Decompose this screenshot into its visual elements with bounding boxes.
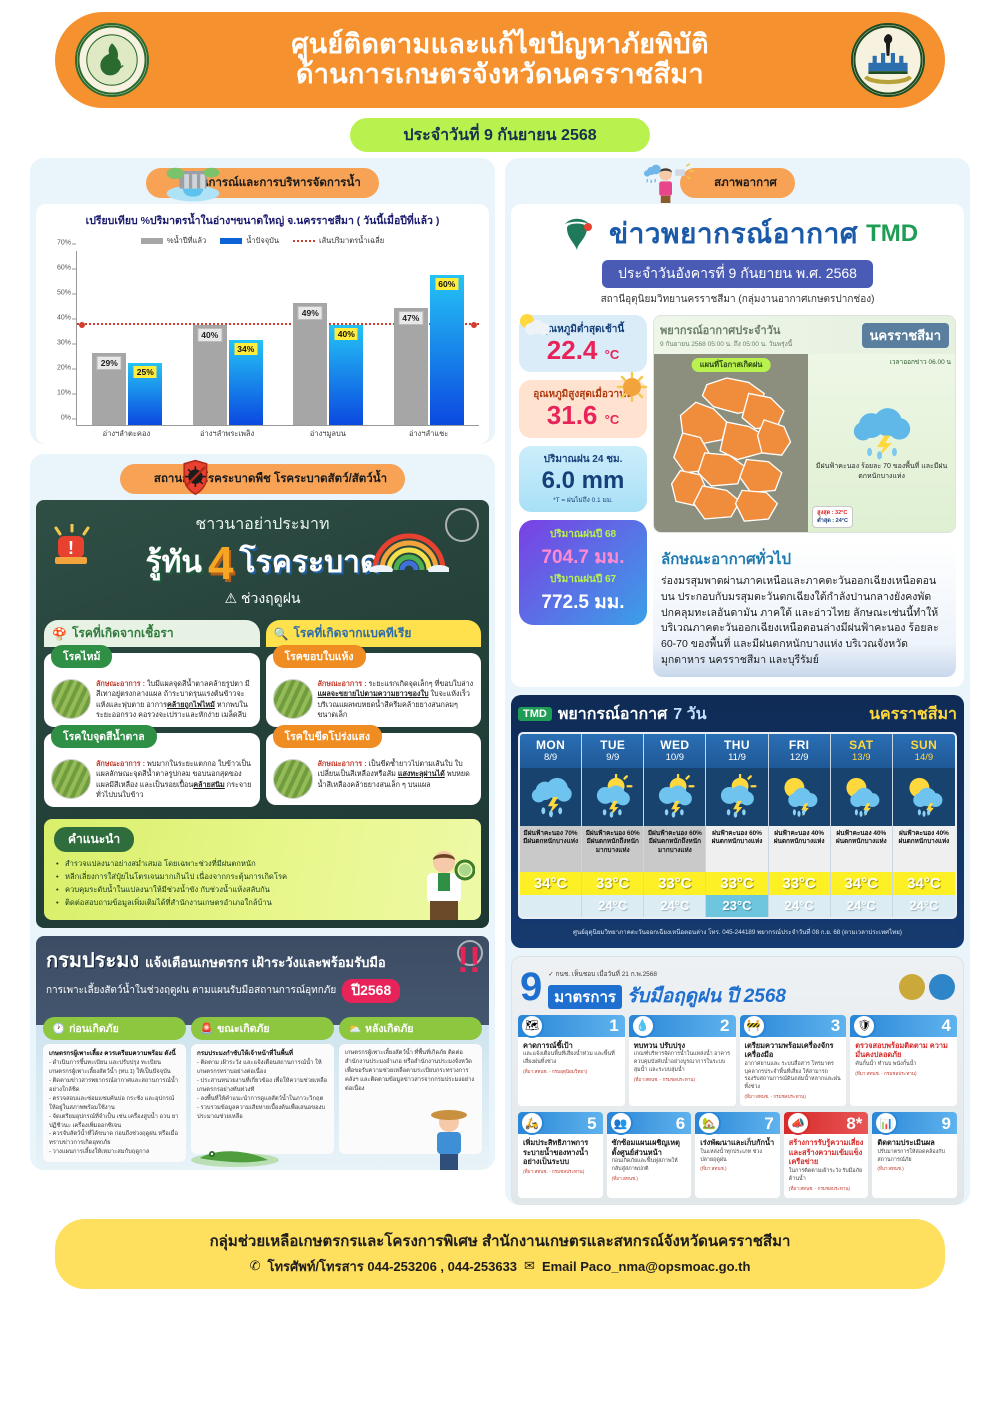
- measures-word: มาตรการ: [548, 985, 622, 1009]
- fisheries-phase-body: เกษตรกรผู้เพาะเลี้ยง ควรเตรียมความพร้อม …: [43, 1044, 186, 1163]
- footer-email: Email Paco_nma@opsmoac.go.th: [542, 1259, 750, 1274]
- disease-body: ลักษณะอาการ : เป็นขีดช้ำยาวไปตามเส้นใบ ใ…: [273, 759, 475, 799]
- siren-icon: 🚨: [200, 1022, 213, 1035]
- map-caption: มีฝนฟ้าคะนอง ร้อยละ 70 ของพื้นที่ และมีฝ…: [808, 462, 955, 482]
- warning-triangle-icon: ⚠: [225, 590, 238, 606]
- excavator-icon: 🛵: [520, 1112, 544, 1135]
- poster-main-number: 4: [208, 540, 234, 586]
- svg-text:!: !: [68, 538, 74, 558]
- forecast-header: TMD พยากรณ์อากาศ 7 วัน นครราชสีมา: [518, 702, 957, 727]
- fisheries-warning-card: กรมประมง แจ้งเตือนเกษตรกร เฝ้าระวังและพร…: [36, 936, 489, 1171]
- weather-section: สภาพอากาศ ข่าวพยากรณ์อากาศ TMD ประจำวันอ…: [505, 158, 970, 1205]
- poster-stamp-icon: [445, 508, 479, 542]
- chart-y-axis: 0%10%20%30%40%50%60%70%: [43, 251, 75, 425]
- rain-year-card: ปริมาณฝนปี 68 704.7 มม. ปริมาณฝนปี 67 77…: [519, 520, 647, 625]
- fisheries-phase-header: 🕐ก่อนเกิดภัย: [43, 1017, 186, 1040]
- sun-cloud-icon: [517, 311, 551, 341]
- sun-rain-icon: [893, 768, 955, 826]
- sun-icon: [615, 372, 649, 402]
- fisheries-phase-title: ก่อนเกิดภัย: [69, 1020, 119, 1037]
- measure-body: ติดตามประเมินผลปรับมาตรการให้สอดคล้องกับ…: [872, 1134, 957, 1178]
- forecast-day-low: 24°C: [644, 895, 705, 917]
- forecast-day-low: 24°C: [893, 895, 955, 917]
- disease-photo: [51, 759, 91, 799]
- storm-cloud-icon: [844, 404, 920, 462]
- mdes-logo-icon: [557, 214, 601, 254]
- monitor-evaluate-icon: 📊: [874, 1112, 898, 1135]
- rain-year-68-label: ปริมาณฝนปี 68: [525, 527, 641, 542]
- measure-number-bar: 📊9: [872, 1112, 957, 1134]
- measure-number: 3: [831, 1017, 840, 1034]
- legend-swatch-average: [293, 240, 315, 242]
- measure-number: 8*: [846, 1115, 862, 1132]
- forecast-day-low: 24°C: [582, 895, 643, 917]
- advice-item: ติดต่อสอบถามข้อมูลเพิ่มเติมได้ที่สำนักงา…: [54, 896, 471, 909]
- tmd-title: ข่าวพยากรณ์อากาศ: [609, 212, 858, 256]
- measure-source: (ที่มา:สทนช. - กรมชลประทาน): [855, 1071, 952, 1078]
- disease-category: 🍄โรคที่เกิดจากเชื้อราโรคไหม้ลักษณะอาการ …: [44, 620, 260, 813]
- measure-body: คาดการณ์ชี้เป้าและแจ้งเตือนพื้นที่เสี่ยง…: [518, 1037, 625, 1081]
- measures-title: รับมือฤดูฝน ปี 2568: [627, 981, 786, 1011]
- page-title-line2: ด้านการเกษตรจังหวัดนครราชสีมา: [291, 60, 709, 90]
- chart-bar-group: 47%60%: [379, 251, 480, 425]
- fisheries-phase-title: ขณะเกิดภัย: [217, 1020, 269, 1037]
- forecast-day-header: SUN14/9: [893, 734, 955, 768]
- disease-name: โรคใบขีดโปร่งแสง: [273, 725, 382, 748]
- chart-bar-value: 40%: [335, 328, 358, 340]
- forecast-day-column[interactable]: TUE9/9มีฝนฟ้าคะนอง 60% มีฝนตกหนักถึงหนัก…: [582, 734, 644, 917]
- forecast-day-date: 9/9: [582, 752, 643, 763]
- footer-phone: โทรศัพท์/โทรสาร 044-253206 , 044-253633: [268, 1256, 518, 1277]
- disease-category-label: โรคที่เกิดจากเชื้อรา: [72, 624, 174, 643]
- measure-title: เตรียมความพร้อมเครื่องจักรเครื่องมือ: [745, 1041, 842, 1060]
- forecast-day-column[interactable]: THU11/9ฝนฟ้าคะนอง 60% ฝนตกหนักบางแห่ง33°…: [706, 734, 768, 917]
- daily-forecast-map-panel: พยากรณ์อากาศประจำวัน 9 กันยายน 2568 05:0…: [653, 315, 956, 533]
- measure-title: คาดการณ์ชี้เป้า: [523, 1041, 620, 1051]
- forecast-day-header: FRI12/9: [769, 734, 830, 768]
- forecast-day-high: 34°C: [520, 872, 581, 895]
- measure-source: (ที่มา:สทนช. - กรมชลประทาน): [745, 1094, 842, 1101]
- exclamation-icon: !!: [457, 946, 481, 975]
- measure-number: 9: [942, 1115, 951, 1132]
- page-footer: กลุ่มช่วยเหลือเกษตรกรและโครงการพิเศษ สำน…: [55, 1219, 945, 1289]
- measure-item[interactable]: 👥6ซักซ้อมแผนเผชิญเหตุ ตั้งศูนย์ส่วนหน้าก…: [607, 1112, 692, 1198]
- sun-rain-thunder-icon: [582, 768, 643, 826]
- weather-section-header: สภาพอากาศ: [505, 168, 970, 198]
- chart-bar-value: 25%: [134, 366, 157, 378]
- disease-card: โรคใบขีดโปร่งแสงลักษณะอาการ : เป็นขีดช้ำ…: [266, 733, 482, 805]
- poster-season-label: ช่วงฤดูฝน: [241, 590, 301, 606]
- province-district-map[interactable]: แผนที่โอกาสเกิดฝน: [654, 354, 808, 532]
- measure-number: 6: [676, 1115, 685, 1132]
- disease-name: โรคขอบใบแห้ง: [273, 645, 366, 668]
- disease-body: ลักษณะอาการ : พบมากในระยะแตกกอ ใบข้าวเป็…: [51, 759, 253, 801]
- advice-list: สำรวจแปลงนาอย่างสม่ำเสมอ โดยเฉพาะช่วงที่…: [54, 857, 471, 910]
- clock-icon: 🕐: [52, 1022, 65, 1035]
- forecast-day-name: WED: [644, 738, 705, 752]
- chart-bar-value: 49%: [298, 306, 323, 320]
- forecast-day-column[interactable]: SAT13/9ฝนฟ้าคะนอง 40% ฝนตกหนักบางแห่ง34°…: [831, 734, 893, 917]
- disease-body: ลักษณะอาการ : ใบมีแผลจุดสีน้ำตาลคล้ายรูป…: [51, 679, 253, 721]
- measure-item[interactable]: 🗺1คาดการณ์ชี้เป้าและแจ้งเตือนพื้นที่เสี่…: [518, 1015, 625, 1107]
- chart-bar-group: 40%34%: [178, 251, 279, 425]
- chart-bar: 25%: [128, 363, 162, 426]
- measure-title: ทบทวน ปรับปรุง: [634, 1041, 731, 1051]
- measure-source: (ที่มา:สทนช. - กรมชลประทาน): [634, 1077, 731, 1084]
- measure-body: ซักซ้อมแผนเผชิญเหตุ ตั้งศูนย์ส่วนหน้าก่อ…: [607, 1134, 692, 1188]
- fisheries-subtitle: การเพาะเลี้ยงสัตว์น้ำในช่วงฤดูฝน ตามแผนร…: [46, 983, 336, 998]
- chart-bar-value: 34%: [234, 343, 257, 355]
- chart-legend: %น้ำปีที่แล้ว น้ำปัจจุบัน เส้นปริมาตรน้ำ…: [42, 235, 483, 247]
- measure-number-bar: 🛵5: [518, 1112, 603, 1134]
- general-weather-box: ลักษณะอากาศทั่วไป ร่องมรสุมพาดผ่านภาคเหน…: [653, 541, 956, 677]
- y-tick: 40%: [57, 315, 71, 322]
- forecast-day-name: SUN: [893, 738, 955, 752]
- chart-plot-area: 0%10%20%30%40%50%60%70% 29%25%40%34%49%4…: [76, 251, 479, 426]
- chart-bar: 49%: [293, 303, 327, 426]
- min-temp-unit: °C: [605, 347, 620, 362]
- flood-risk-map-icon: 🗺: [520, 1015, 544, 1038]
- sun-rain-thunder-icon: [706, 768, 767, 826]
- disease-symptoms: ลักษณะอาการ : เป็นขีดช้ำยาวไปตามเส้นใบ ใ…: [318, 759, 475, 799]
- right-column: สภาพอากาศ ข่าวพยากรณ์อากาศ TMD ประจำวันอ…: [505, 158, 970, 1215]
- forecast-day-date: 13/9: [831, 752, 892, 763]
- map-temp-badge: สูงสุด : 32°C ต่ำสุด : 24°C: [812, 506, 853, 528]
- fisheries-phase-head: กรมประมงกำชับให้เจ้าหน้าที่ในพื้นที่: [197, 1050, 293, 1057]
- disease-situation-section: สถานการโรคระบาดพืช โรคระบาดสัตว์/สัตว์น้…: [30, 454, 495, 1170]
- measure-desc: เกณฑ์บริหารจัดการน้ำในแหล่งน้ำ อาคารควบค…: [634, 1051, 731, 1074]
- rain-24h-value: 6.0 mm: [527, 467, 639, 495]
- chart-bar-groups: 29%25%40%34%49%40%47%60%: [77, 251, 479, 425]
- measure-desc: ก่อนเกิดภัยและฟื้นฟูสภาพให้กลับสู่สภาพปก…: [612, 1158, 687, 1174]
- weather-section-badge: สภาพอากาศ: [680, 168, 795, 198]
- water-section-header: สถานการณ์และการบริหารจัดการน้ำ: [30, 168, 495, 198]
- forecast-day-high: 33°C: [769, 872, 830, 895]
- fisheries-header: กรมประมง แจ้งเตือนเกษตรกร เฝ้าระวังและพร…: [36, 936, 489, 1013]
- measure-source: (ที่มา:สทนช. - กรมอุตุนิยมวิทยา): [523, 1069, 620, 1076]
- map-title-sub: 9 กันยายน 2568 05:00 น. ถึง 05:00 น. วัน…: [660, 339, 792, 349]
- general-weather-text: ร่องมรสุมพาดผ่านภาคเหนือและภาคตะวันออกเฉ…: [661, 574, 948, 669]
- footer-contact-line: ✆ โทรศัพท์/โทรสาร 044-253206 , 044-25363…: [55, 1256, 945, 1277]
- measures-title-row: มาตรการ รับมือฤดูฝน ปี 2568: [548, 981, 893, 1011]
- measure-body: ตรวจสอบพร้อมติดตาม ความมั่นคงปลอดภัยคันก…: [850, 1037, 957, 1083]
- fisheries-phase-header: 🚨ขณะเกิดภัย: [191, 1017, 334, 1040]
- alarm-siren-icon: !: [50, 524, 94, 570]
- forecast-grid: MON8/9มีฝนฟ้าคะนอง 70% มีฝนตกหนักบางแห่ง…: [518, 732, 957, 919]
- drill-team-icon: 👥: [609, 1112, 633, 1135]
- measure-item[interactable]: 📣8*สร้างการรับรู้ความเสี่ยงและสร้างความเ…: [784, 1112, 869, 1198]
- forecast-title: TMD พยากรณ์อากาศ 7 วัน: [518, 702, 707, 727]
- measure-desc: ในการติดตามเฝ้าระวัง รับมือภัยด้านน้ำ: [789, 1168, 864, 1184]
- disease-name: โรคไหม้: [51, 645, 112, 668]
- disease-category-pill: 🍄โรคที่เกิดจากเชื้อรา: [44, 620, 260, 647]
- min-temp-value: 22.4 °C: [527, 337, 639, 364]
- forecast-day-header: THU11/9: [706, 734, 767, 768]
- water-situation-section: สถานการณ์และการบริหารจัดการน้ำ เปรียบเที…: [30, 158, 495, 444]
- measure-body: เตรียมความพร้อมเครื่องจักรเครื่องมืออากา…: [740, 1037, 847, 1107]
- measure-title: ติดตามประเมินผล: [877, 1138, 952, 1148]
- crocodile-icon: [190, 1134, 280, 1168]
- measures-seals: [899, 974, 955, 1000]
- forecast-day-low: 23°C: [706, 895, 767, 917]
- chart-bar-value: 47%: [398, 311, 423, 325]
- forecast-day-header: TUE9/9: [582, 734, 643, 768]
- fisheries-year-badge: ปี2568: [342, 979, 400, 1003]
- disease-category-pill: 🔍โรคที่เกิดจากแบคทีเรีย: [266, 620, 482, 647]
- legend-item-current: น้ำปัจจุบัน: [220, 235, 279, 247]
- y-tick: 70%: [57, 240, 71, 247]
- report-date-pill: ประจำวันที่ 9 กันยายน 2568: [350, 118, 650, 152]
- measure-desc: อากาศยานและ ระบบสื่อสาร โทรมาตร บุคลากรป…: [745, 1061, 842, 1092]
- awareness-network-icon: 📣: [786, 1112, 810, 1135]
- main-columns: สถานการณ์และการบริหารจัดการน้ำ เปรียบเที…: [0, 152, 1000, 1215]
- max-temp-value: 31.6 °C: [527, 402, 639, 429]
- fisheries-phase-line: - ติดตามข่าวสารพยากรณ์อากาศและสถานการณ์น…: [49, 1078, 178, 1093]
- forecast-days-word: 7 วัน: [673, 702, 706, 727]
- forecast-day-column[interactable]: MON8/9มีฝนฟ้าคะนอง 70% มีฝนตกหนักบางแห่ง…: [520, 734, 582, 917]
- rain-year-67-label: ปริมาณฝนปี 67: [525, 572, 641, 587]
- measure-item[interactable]: 💧2ทบทวน ปรับปรุงเกณฑ์บริหารจัดการน้ำในแห…: [629, 1015, 736, 1107]
- forecast-day-column[interactable]: WED10/9มีฝนฟ้าคะนอง 60% มีฝนตกหนักถึงหนั…: [644, 734, 706, 917]
- measure-number: 7: [764, 1115, 773, 1132]
- weather-map-column: พยากรณ์อากาศประจำวัน 9 กันยายน 2568 05:0…: [653, 315, 956, 677]
- y-tick: 60%: [57, 265, 71, 272]
- map-time-label: เวลาออกข่าว 06.00 น: [890, 357, 951, 367]
- poster-main-a: รู้ทัน: [146, 539, 202, 586]
- measure-title: ซักซ้อมแผนเผชิญเหตุ ตั้งศูนย์ส่วนหน้า: [612, 1138, 687, 1157]
- min-temp-card: อุณหภูมิต่ำสุดเช้านี้ 22.4 °C: [519, 315, 647, 372]
- sun-rain-icon: [831, 768, 892, 826]
- legend-label-prev: %น้ำปีที่แล้ว: [167, 235, 206, 247]
- sun-rain-icon: [769, 768, 830, 826]
- map-title-text: พยากรณ์อากาศประจำวัน: [660, 325, 780, 337]
- chart-bar: 60%: [430, 275, 464, 425]
- measure-item[interactable]: 🛵5เพิ่มประสิทธิภาพการระบายน้ำของทางน้ำอย…: [518, 1112, 603, 1198]
- max-temp-number: 31.6: [547, 400, 598, 430]
- forecast-footer-note: ศูนย์อุตุนิยมวิทยาภาคตะวันออกเฉียงเหนือต…: [518, 924, 957, 940]
- chart-x-label: อ่างฯลำพระเพลิง: [177, 428, 278, 440]
- y-tick: 20%: [57, 365, 71, 372]
- fisheries-phase-header: ⛅หลังเกิดภัย: [339, 1017, 482, 1040]
- forecast-day-high: 33°C: [644, 872, 705, 895]
- disease-photo: [273, 679, 313, 719]
- disease-photo: [273, 759, 313, 799]
- forecast-day-date: 14/9: [893, 752, 955, 763]
- sun-cloud-icon: ⛅: [348, 1022, 361, 1035]
- forecast-day-name: TUE: [582, 738, 643, 752]
- forecast-day-desc: ฝนฟ้าคะนอง 40% ฝนตกหนักบางแห่ง: [831, 826, 892, 872]
- agronomist-figure-icon: [413, 846, 475, 920]
- fisheries-phase-line: - ลงพื้นที่ให้คำแนะนำการดูแลสัตว์น้ำในภา…: [197, 1096, 323, 1102]
- max-temp-unit: °C: [605, 412, 620, 427]
- disease-category-label: โรคที่เกิดจากแบคทีเรีย: [293, 624, 411, 643]
- forecast-day-header: SAT13/9: [831, 734, 892, 768]
- measure-number-bar: 🚧3: [740, 1015, 847, 1037]
- chart-bar: 40%: [193, 325, 227, 425]
- dam-safety-icon: 🛡: [852, 1015, 876, 1038]
- y-tick: 10%: [57, 390, 71, 397]
- chart-x-labels: อ่างฯลำตะคองอ่างฯลำพระเพลิงอ่างฯมูลบนอ่า…: [76, 428, 479, 440]
- tmd-header: ข่าวพยากรณ์อากาศ TMD: [519, 212, 956, 256]
- rain-year-67-value: 772.5 มม.: [525, 587, 641, 617]
- map-high-temp: สูงสุด : 32°C: [817, 510, 847, 516]
- forecast-day-date: 12/9: [769, 752, 830, 763]
- y-tick: 0%: [61, 415, 71, 422]
- fisheries-phase-line: - ดำเนินการขึ้นทะเบียน และปรับปรุง ทะเบี…: [49, 1060, 171, 1075]
- ministry-of-agriculture-seal-icon: [75, 23, 149, 97]
- legend-swatch-prev: [141, 238, 163, 244]
- forecast-day-low: [520, 895, 581, 917]
- forecast-tmd-logo: TMD: [518, 707, 552, 721]
- measure-body: สร้างการรับรู้ความเสี่ยงและสร้างความเข้ม…: [784, 1134, 869, 1198]
- measures-row-2: 🛵5เพิ่มประสิทธิภาพการระบายน้ำของทางน้ำอย…: [512, 1112, 963, 1204]
- measures-number: 9: [520, 970, 542, 1004]
- tmd-logo: TMD: [866, 220, 918, 248]
- disease-symptoms: ลักษณะอาการ : ระยะแรกเกิดจุดเล็กๆ ที่ขอบ…: [318, 679, 475, 721]
- water-office-seal-icon: [929, 974, 955, 1000]
- forecast-day-header: MON8/9: [520, 734, 581, 768]
- forecast-day-low: 24°C: [769, 895, 830, 917]
- measures-title-block: ✓ กนช. เห็นชอบ เมื่อวันที่ 21 ก.พ.2568 ม…: [548, 963, 893, 1011]
- forecast-day-column[interactable]: SUN14/9ฝนฟ้าคะนอง 40% ฝนตกหนักบางแห่ง34°…: [893, 734, 955, 917]
- measures-approval-note: ✓ กนช. เห็นชอบ เมื่อวันที่ 21 ก.พ.2568: [548, 971, 657, 978]
- forecast-day-name: SAT: [831, 738, 892, 752]
- map-low-temp: ต่ำสุด : 24°C: [817, 518, 848, 524]
- dam-water-icon: [165, 163, 221, 203]
- disease-category: 🔍โรคที่เกิดจากแบคทีเรียโรคขอบใบแห้งลักษณ…: [266, 620, 482, 813]
- fisheries-phase-line: - จัดเตรียมอุปกรณ์ที่จำเป็น เช่น เครื่อง…: [49, 1114, 178, 1129]
- legend-item-average: เส้นปริมาตรน้ำเฉลี่ย: [293, 235, 384, 247]
- forecast-day-desc: มีฝนฟ้าคะนอง 70% มีฝนตกหนักบางแห่ง: [520, 826, 581, 872]
- fisheries-phase-line: - วางแผนการเลี้ยงให้เหมาะสมกับฤดูกาล: [49, 1149, 149, 1155]
- garuda-seal-icon: [899, 974, 925, 1000]
- measure-number-bar: 🏡7: [695, 1112, 780, 1134]
- disease-categories: 🍄โรคที่เกิดจากเชื้อราโรคไหม้ลักษณะอาการ …: [36, 616, 489, 813]
- measure-source: (ที่มา:สทนช. - กรมชลประทาน): [523, 1169, 598, 1176]
- forecast-day-header: WED10/9: [644, 734, 705, 768]
- page-title-line1: ศูนย์ติดตามและแก้ไขปัญหาภัยพิบัติ: [291, 30, 709, 60]
- forecast-day-column[interactable]: FRI12/9ฝนฟ้าคะนอง 40% ฝนตกหนักบางแห่ง33°…: [769, 734, 831, 917]
- forecast-day-low: 24°C: [831, 895, 892, 917]
- page-title: ศูนย์ติดตามและแก้ไขปัญหาภัยพิบัติ ด้านกา…: [291, 30, 709, 89]
- measures-row-1: 🗺1คาดการณ์ชี้เป้าและแจ้งเตือนพื้นที่เสี่…: [512, 1015, 963, 1113]
- measure-body: เร่งพัฒนาและเก็บกักน้ำในแหล่งน้ำทุกประเภ…: [695, 1134, 780, 1178]
- rain-24h-note: *T = ฝนไม่ถึง 0.1 มม.: [527, 495, 639, 505]
- measure-source: (ที่มา:สทนช.): [700, 1166, 775, 1173]
- chart-bar: 47%: [394, 308, 428, 426]
- measure-title: เร่งพัฒนาและเก็บกักน้ำ: [700, 1138, 775, 1148]
- fisheries-phase-line: - ตรวจสอบและซ่อมแซมคันบ่อ กระชัง และอุปก…: [49, 1096, 174, 1111]
- forecast-day-desc: ฝนฟ้าคะนอง 40% ฝนตกหนักบางแห่ง: [893, 826, 955, 872]
- forecast-day-name: FRI: [769, 738, 830, 752]
- left-column: สถานการณ์และการบริหารจัดการน้ำ เปรียบเที…: [30, 158, 495, 1215]
- measure-desc: และแจ้งเตือนพื้นที่เสี่ยงน้ำท่วม และพื้น…: [523, 1051, 620, 1067]
- rain-year-68-value: 704.7 มม.: [525, 542, 641, 572]
- map-weather-summary: เวลาออกข่าว 06.00 น มีฝนฟ้าคะนอง ร้อยละ …: [808, 354, 955, 532]
- map-panel-body: แผนที่โอกาสเกิดฝน: [654, 354, 955, 532]
- rain-thunder-icon: [520, 768, 581, 826]
- sun-rain-thunder-icon: [644, 768, 705, 826]
- measure-title: สร้างการรับรู้ความเสี่ยงและสร้างความเข้ม…: [789, 1138, 864, 1167]
- chart-title: เปรียบเทียบ %ปริมาตรน้ำในอ่างฯขนาดใหญ่ จ…: [42, 212, 483, 229]
- water-storage-icon: 🏡: [697, 1112, 721, 1135]
- measure-number: 1: [609, 1017, 618, 1034]
- general-weather-title: ลักษณะอากาศทั่วไป: [661, 547, 948, 571]
- virus-shield-icon: [165, 459, 221, 499]
- chart-bar-group: 29%25%: [77, 251, 178, 425]
- disease-photo: [51, 679, 91, 719]
- fungus-icon: 🍄: [52, 627, 67, 641]
- measure-number-bar: 👥6: [607, 1112, 692, 1134]
- forecast-day-desc: มีฝนฟ้าคะนอง 60% มีฝนตกหนักถึงหนักมากบาง…: [582, 826, 643, 872]
- rainbow-icon: [369, 528, 449, 572]
- measure-number: 2: [720, 1017, 729, 1034]
- map-province-label: นครราชสีมา: [862, 323, 949, 348]
- forecast-day-name: MON: [520, 738, 581, 752]
- nakhon-ratchasima-province-seal-icon: [851, 23, 925, 97]
- rain-24h-label: ปริมาณฝน 24 ชม.: [527, 452, 639, 467]
- measure-source: (ที่มา:สทนช. - กรมชลประทาน): [789, 1186, 864, 1193]
- chart-bar-value: 40%: [197, 328, 222, 342]
- envelope-icon: ✉: [524, 1258, 535, 1274]
- forecast-day-high: 34°C: [893, 872, 955, 895]
- chart-x-label: อ่างฯลำตะคอง: [76, 428, 177, 440]
- map-panel-title: พยากรณ์อากาศประจำวัน 9 กันยายน 2568 05:0…: [660, 321, 792, 349]
- measure-number-bar: 📣8*: [784, 1112, 869, 1134]
- chart-x-label: อ่างฯลำแชะ: [378, 428, 479, 440]
- advice-box: คำแนะนำ สำรวจแปลงนาอย่างสม่ำเสมอ โดยเฉพา…: [44, 819, 481, 920]
- chart-bar: 40%: [329, 325, 363, 425]
- disease-card: โรคไหม้ลักษณะอาการ : ใบมีแผลจุดสีน้ำตาลค…: [44, 653, 260, 727]
- poster-main-b: โรคระบาด: [240, 539, 380, 586]
- page-header: ศูนย์ติดตามและแก้ไขปัญหาภัยพิบัติ ด้านกา…: [0, 0, 1000, 152]
- bacteria-magnifier-icon: 🔍: [274, 627, 289, 641]
- legend-label-average: เส้นปริมาตรน้ำเฉลี่ย: [319, 235, 384, 247]
- measure-item[interactable]: 🛡4ตรวจสอบพร้อมติดตาม ความมั่นคงปลอดภัยคั…: [850, 1015, 957, 1107]
- disease-section-header: สถานการโรคระบาดพืช โรคระบาดสัตว์/สัตว์น้…: [30, 464, 495, 494]
- disease-poster: ! ชาวนาอย่าประมาท รู้ทัน 4 โรคระบาด ⚠ ช่: [36, 500, 489, 928]
- measure-item[interactable]: 📊9ติดตามประเมินผลปรับมาตรการให้สอดคล้องก…: [872, 1112, 957, 1198]
- forecast-day-high: 33°C: [582, 872, 643, 895]
- reservoir-chart: เปรียบเทียบ %ปริมาตรน้ำในอ่างฯขนาดใหญ่ จ…: [36, 204, 489, 444]
- chart-x-label: อ่างฯมูลบน: [278, 428, 379, 440]
- measure-item[interactable]: 🚧3เตรียมความพร้อมเครื่องจักรเครื่องมืออา…: [740, 1015, 847, 1107]
- measure-number-bar: 🛡4: [850, 1015, 957, 1037]
- measure-title: เพิ่มประสิทธิภาพการระบายน้ำของทางน้ำอย่า…: [523, 1138, 598, 1167]
- measure-desc: ในแหล่งน้ำทุกประเภท ช่วงปลายฤดูฝน: [700, 1149, 775, 1165]
- measure-item[interactable]: 🏡7เร่งพัฒนาและเก็บกักน้ำในแหล่งน้ำทุกประ…: [695, 1112, 780, 1198]
- forecast-day-high: 33°C: [706, 872, 767, 895]
- measures-header: 9 ✓ กนช. เห็นชอบ เมื่อวันที่ 21 ก.พ.2568…: [512, 957, 963, 1015]
- tmd-station-label: สถานีอุตุนิยมวิทยานครราชสีมา (กลุ่มงานอา…: [519, 292, 956, 307]
- disease-name: โรคใบจุดสีน้ำตาล: [51, 725, 157, 748]
- fisheries-phase: 🕐ก่อนเกิดภัยเกษตรกรผู้เพาะเลี้ยง ควรเตรี…: [43, 1017, 186, 1163]
- legend-swatch-current: [220, 238, 242, 244]
- measure-desc: ปรับมาตรการให้สอดคล้องกับสถานการณ์ภัย: [877, 1149, 952, 1165]
- forecast-day-date: 11/9: [706, 752, 767, 763]
- disease-symptoms: ลักษณะอาการ : ใบมีแผลจุดสีน้ำตาลคล้ายรูป…: [96, 679, 253, 721]
- legend-item-prev: %น้ำปีที่แล้ว: [141, 235, 206, 247]
- tmd-forecast-card: ข่าวพยากรณ์อากาศ TMD ประจำวันอังคารที่ 9…: [511, 204, 964, 687]
- disease-card: โรคขอบใบแห้งลักษณะอาการ : ระยะแรกเกิดจุด…: [266, 653, 482, 727]
- y-tick: 30%: [57, 340, 71, 347]
- footer-org-line: กลุ่มช่วยเหลือเกษตรกรและโครงการพิเศษ สำน…: [55, 1229, 945, 1253]
- fisheries-phase-title: หลังเกิดภัย: [365, 1020, 413, 1037]
- advice-item: สำรวจแปลงนาอย่างสม่ำเสมอ โดยเฉพาะช่วงที่…: [54, 857, 471, 870]
- poster-season: ⚠ ช่วงฤดูฝน: [46, 588, 479, 610]
- disease-card: โรคใบจุดสีน้ำตาลลักษณะอาการ : พบมากในระย…: [44, 733, 260, 807]
- tmd-date-bar: ประจำวันอังคารที่ 9 กันยายน พ.ศ. 2568: [602, 260, 873, 288]
